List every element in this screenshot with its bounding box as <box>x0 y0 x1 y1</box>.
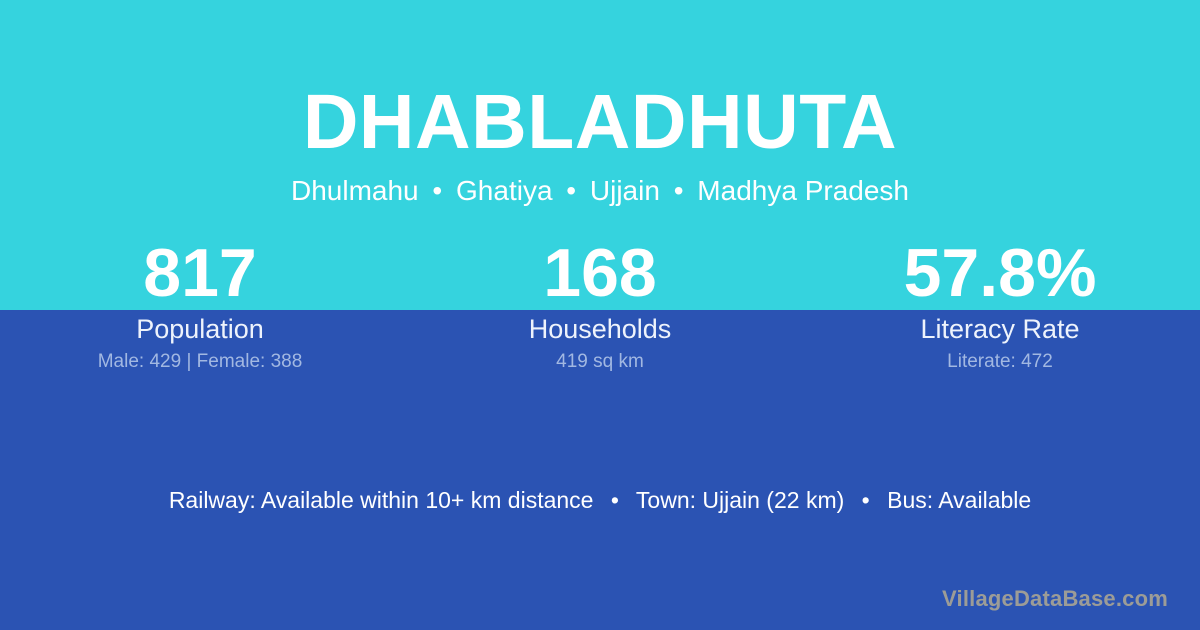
stat-sub-population: Male: 429 | Female: 388 <box>0 348 400 376</box>
site-branding: VillageDataBase.com <box>942 586 1168 612</box>
stat-value-literacy-rate: 57.8% <box>800 236 1200 310</box>
amenity-separator-icon: • <box>600 485 630 515</box>
village-info-card: DHABLADHUTA Dhulmahu • Ghatiya • Ujjain … <box>0 0 1200 630</box>
stat-value-households: 168 <box>400 236 800 310</box>
page-title: DHABLADHUTA <box>0 0 1200 161</box>
breadcrumb-item-village: Dhulmahu <box>291 175 419 206</box>
stat-households: 168 Households 419 sq km <box>400 236 800 376</box>
breadcrumb-item-block: Ghatiya <box>456 175 553 206</box>
stat-population: 817 Population Male: 429 | Female: 388 <box>0 236 400 376</box>
amenities-line: Railway: Available within 10+ km distanc… <box>0 485 1200 515</box>
stat-literacy-rate: 57.8% Literacy Rate Literate: 472 <box>800 236 1200 376</box>
stat-sub-households: 419 sq km <box>400 348 800 376</box>
amenity-railway: Railway: Available within 10+ km distanc… <box>169 487 594 513</box>
stat-label-literacy-rate: Literacy Rate <box>800 310 1200 348</box>
breadcrumb-item-state: Madhya Pradesh <box>697 175 909 206</box>
stat-label-households: Households <box>400 310 800 348</box>
stat-value-population: 817 <box>0 236 400 310</box>
breadcrumb: Dhulmahu • Ghatiya • Ujjain • Madhya Pra… <box>0 161 1200 205</box>
breadcrumb-item-district: Ujjain <box>590 175 660 206</box>
breadcrumb-separator-icon: • <box>668 177 690 205</box>
stats-row: 817 Population Male: 429 | Female: 388 1… <box>0 236 1200 376</box>
amenity-separator-icon: • <box>851 485 881 515</box>
stat-label-population: Population <box>0 310 400 348</box>
card-header: DHABLADHUTA Dhulmahu • Ghatiya • Ujjain … <box>0 0 1200 205</box>
breadcrumb-separator-icon: • <box>560 177 582 205</box>
stat-sub-literacy-rate: Literate: 472 <box>800 348 1200 376</box>
amenity-bus: Bus: Available <box>887 487 1031 513</box>
breadcrumb-separator-icon: • <box>426 177 448 205</box>
amenity-town: Town: Ujjain (22 km) <box>636 487 844 513</box>
